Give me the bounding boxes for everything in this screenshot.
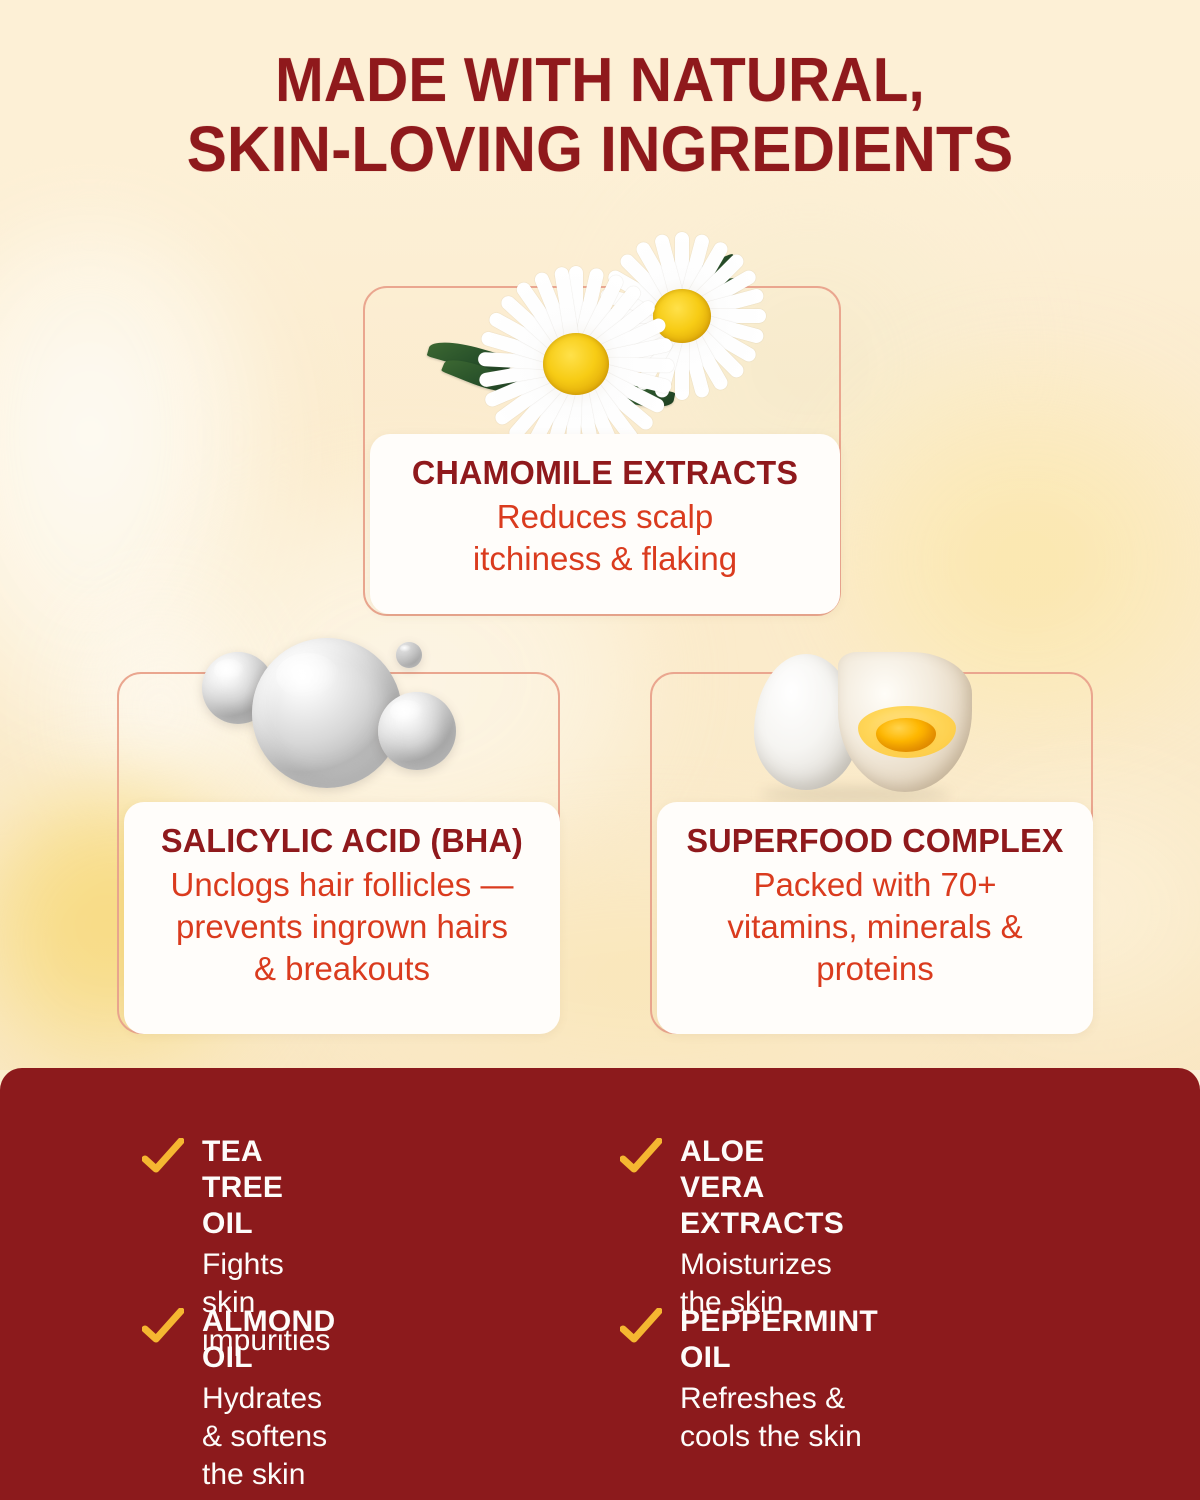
ingredient-plate-chamomile: CHAMOMILE EXTRACTS Reduces scalp itchine… [370, 434, 840, 614]
ingredient-title: SALICYLIC ACID (BHA) [128, 822, 555, 860]
ingredient-desc-line-1: Packed with 70+ [657, 864, 1093, 906]
ingredient-plate-superfood-complex: SUPERFOOD COMPLEX Packed with 70+ vitami… [657, 802, 1093, 1034]
benefit-title: TEA TREE OIL [202, 1134, 330, 1242]
checkmark-icon [142, 1138, 184, 1178]
benefit-desc: Hydrates & softens the skin [202, 1380, 335, 1493]
ingredient-desc-line-1: Unclogs hair follicles — [124, 864, 560, 906]
page-title-line-1: MADE WITH NATURAL, [275, 46, 925, 115]
checkmark-icon [620, 1138, 662, 1178]
benefit-body: ALMOND OIL Hydrates & softens the skin [202, 1304, 335, 1493]
ingredient-title: SUPERFOOD COMPLEX [661, 822, 1088, 860]
ingredient-desc-line-2: itchiness & flaking [370, 538, 840, 580]
ingredient-desc-line-1: Reduces scalp [370, 496, 840, 538]
page-title-line-2: SKIN-LOVING INGREDIENTS [36, 115, 1164, 184]
ingredient-desc-line-2: vitamins, minerals & [657, 906, 1093, 948]
checkmark-icon [620, 1308, 662, 1348]
benefit-desc: Refreshes & cools the skin [680, 1380, 878, 1456]
ingredient-title: CHAMOMILE EXTRACTS [375, 454, 836, 492]
ingredient-desc-line-2: prevents ingrown hairs [124, 906, 560, 948]
benefit-body: PEPPERMINT OIL Refreshes & cools the ski… [680, 1304, 878, 1456]
page-title: MADE WITH NATURAL, SKIN-LOVING INGREDIEN… [36, 48, 1164, 184]
infographic-canvas: MADE WITH NATURAL, SKIN-LOVING INGREDIEN… [0, 0, 1200, 1500]
benefit-title: ALOE VERA EXTRACTS [680, 1134, 844, 1242]
ingredient-desc-line-3: proteins [657, 948, 1093, 990]
checkmark-icon [142, 1308, 184, 1348]
benefit-body: ALOE VERA EXTRACTS Moisturizes the skin [680, 1134, 844, 1322]
benefits-panel: TEA TREE OIL Fights skin impurities ALOE… [0, 1068, 1200, 1500]
ingredient-desc-line-3: & breakouts [124, 948, 560, 990]
benefit-title: ALMOND OIL [202, 1304, 335, 1376]
benefit-title: PEPPERMINT OIL [680, 1304, 878, 1376]
ingredient-plate-salicylic-acid: SALICYLIC ACID (BHA) Unclogs hair follic… [124, 802, 560, 1034]
